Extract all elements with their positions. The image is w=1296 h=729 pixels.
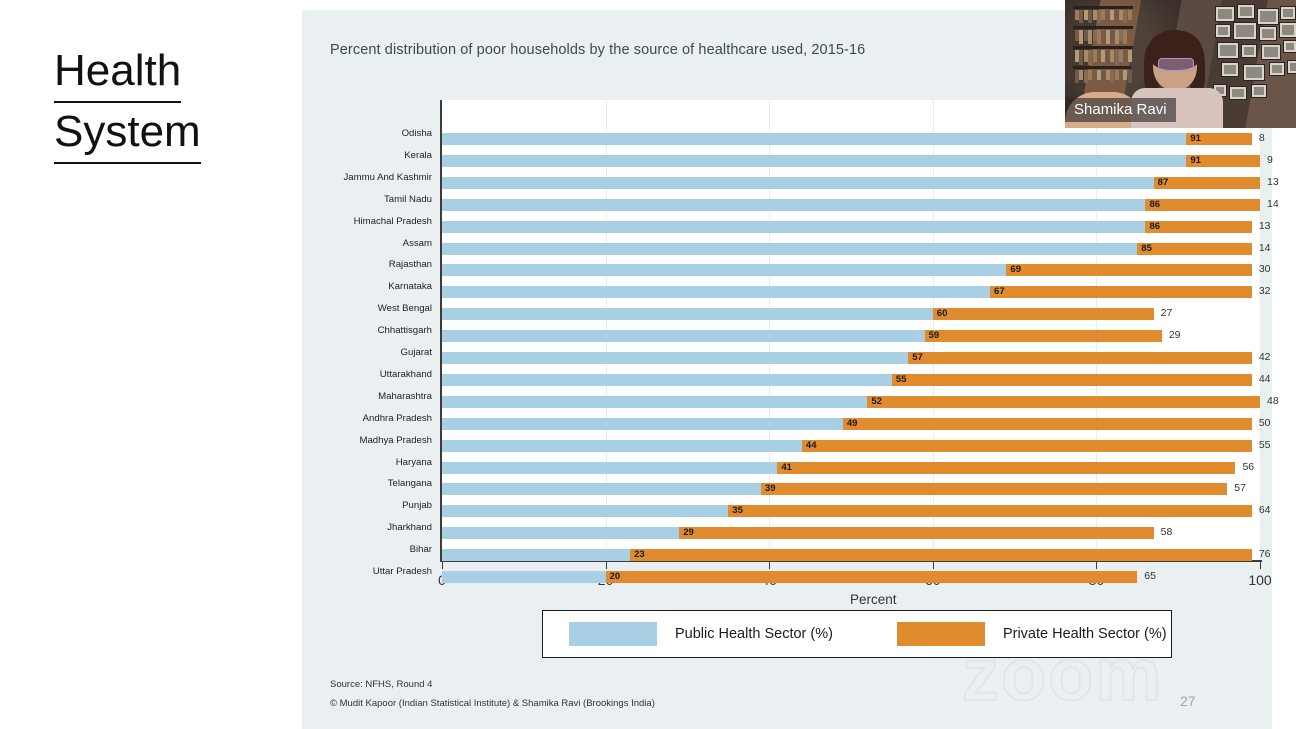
legend-label-public: Public Health Sector (%) xyxy=(675,626,833,642)
book-spine xyxy=(1075,50,1079,62)
bar-row: Tamil Nadu8614 xyxy=(302,194,1272,216)
book-spine xyxy=(1088,30,1092,44)
bar-row: Chhattisgarh5929 xyxy=(302,325,1272,347)
picture-frame-icon xyxy=(1257,8,1279,25)
bar-public-tamil-nadu xyxy=(442,199,1145,211)
value-label-public-assam: 85 xyxy=(1141,242,1152,255)
value-label-private-haryana: 56 xyxy=(1242,461,1254,474)
value-label-public-bihar: 23 xyxy=(634,548,645,561)
picture-frame-icon xyxy=(1287,60,1296,74)
bar-public-jammu-and-kashmir xyxy=(442,177,1154,189)
bar-row: Bihar2376 xyxy=(302,544,1272,566)
bar-public-rajasthan xyxy=(442,264,1006,276)
bar-row: Assam8514 xyxy=(302,238,1272,260)
bar-private-west-bengal xyxy=(933,308,1154,320)
value-label-public-jharkhand: 29 xyxy=(683,526,694,539)
picture-frame-icon xyxy=(1251,84,1267,98)
picture-frame-icon xyxy=(1221,62,1239,77)
book-spine xyxy=(1093,10,1097,20)
bar-row: Jharkhand2958 xyxy=(302,522,1272,544)
person-glasses xyxy=(1158,58,1194,71)
value-label-private-rajasthan: 30 xyxy=(1259,263,1271,276)
bar-row: West Bengal6027 xyxy=(302,303,1272,325)
book-spine xyxy=(1106,50,1110,65)
value-label-public-maharashtra: 52 xyxy=(871,395,882,408)
category-label-haryana: Haryana xyxy=(232,457,432,468)
value-label-public-himachal-pradesh: 86 xyxy=(1149,220,1160,233)
bar-row: Himachal Pradesh8613 xyxy=(302,216,1272,238)
value-label-public-andhra-pradesh: 49 xyxy=(847,417,858,430)
value-label-public-tamil-nadu: 86 xyxy=(1149,198,1160,211)
category-label-himachal-pradesh: Himachal Pradesh xyxy=(232,216,432,227)
bar-row: Odisha918 xyxy=(302,128,1272,150)
bar-private-jammu-and-kashmir xyxy=(1154,177,1260,189)
category-label-jharkhand: Jharkhand xyxy=(232,522,432,533)
book-spine xyxy=(1115,30,1119,44)
book-spine xyxy=(1088,70,1092,80)
value-label-private-karnataka: 32 xyxy=(1259,285,1271,298)
value-label-public-odisha: 91 xyxy=(1190,132,1201,145)
bar-private-punjab xyxy=(728,505,1252,517)
bar-public-bihar xyxy=(442,549,630,561)
value-label-private-telangana: 57 xyxy=(1234,482,1246,495)
value-label-private-odisha: 8 xyxy=(1259,132,1265,145)
bar-private-assam xyxy=(1137,243,1252,255)
picture-frame-icon xyxy=(1217,42,1239,59)
book-spine xyxy=(1079,70,1083,80)
bookshelf-shelf xyxy=(1073,6,1133,9)
value-label-private-gujarat: 42 xyxy=(1259,351,1271,364)
book-spine xyxy=(1128,30,1132,41)
category-label-chhattisgarh: Chhattisgarh xyxy=(232,325,432,336)
book-spine xyxy=(1115,10,1119,23)
bar-public-kerala xyxy=(442,155,1186,167)
value-label-public-west-bengal: 60 xyxy=(937,307,948,320)
picture-frame-icon xyxy=(1233,22,1257,40)
bar-public-haryana xyxy=(442,462,777,474)
book-spine xyxy=(1079,10,1083,23)
value-label-private-jammu-and-kashmir: 13 xyxy=(1267,176,1279,189)
book-spine xyxy=(1110,10,1114,20)
book-spine xyxy=(1119,70,1123,83)
bookshelf-shelf xyxy=(1073,26,1133,29)
value-label-public-telangana: 39 xyxy=(765,482,776,495)
book-spine xyxy=(1097,10,1101,23)
category-label-andhra-pradesh: Andhra Pradesh xyxy=(232,413,432,424)
book-spine xyxy=(1106,70,1110,80)
value-label-private-west-bengal: 27 xyxy=(1161,307,1173,320)
bar-public-assam xyxy=(442,243,1137,255)
value-label-public-punjab: 35 xyxy=(732,504,743,517)
page-title-line-2: System xyxy=(54,103,201,164)
bar-row: Punjab3564 xyxy=(302,500,1272,522)
bookshelf-shelf xyxy=(1073,66,1131,69)
bar-private-himachal-pradesh xyxy=(1145,221,1251,233)
picture-frame-icon xyxy=(1215,24,1231,38)
picture-frame-icon xyxy=(1243,64,1265,81)
picture-frame-icon xyxy=(1259,26,1277,41)
value-label-public-karnataka: 67 xyxy=(994,285,1005,298)
value-label-private-chhattisgarh: 29 xyxy=(1169,329,1181,342)
picture-frame-icon xyxy=(1279,22,1296,38)
category-label-madhya-pradesh: Madhya Pradesh xyxy=(232,435,432,446)
category-label-uttar-pradesh: Uttar Pradesh xyxy=(232,566,432,577)
bar-row: Andhra Pradesh4950 xyxy=(302,413,1272,435)
book-spine xyxy=(1088,10,1092,23)
book-spine xyxy=(1119,30,1123,41)
book-spine xyxy=(1084,70,1088,83)
value-label-public-rajasthan: 69 xyxy=(1010,263,1021,276)
book-spine xyxy=(1101,70,1105,83)
category-label-kerala: Kerala xyxy=(232,150,432,161)
category-label-maharashtra: Maharashtra xyxy=(232,391,432,402)
bar-public-west-bengal xyxy=(442,308,933,320)
value-label-private-maharashtra: 48 xyxy=(1267,395,1279,408)
value-label-private-madhya-pradesh: 55 xyxy=(1259,439,1271,452)
book-spine xyxy=(1115,50,1119,65)
bar-private-tamil-nadu xyxy=(1145,199,1260,211)
book-spine xyxy=(1101,10,1105,20)
bar-row: Karnataka6732 xyxy=(302,281,1272,303)
bar-row: Gujarat5742 xyxy=(302,347,1272,369)
book-spine xyxy=(1110,70,1114,83)
book-spine xyxy=(1106,30,1110,44)
bar-private-uttar-pradesh xyxy=(606,571,1138,583)
bar-private-telangana xyxy=(761,483,1227,495)
slide-page-number: 27 xyxy=(1180,693,1196,709)
value-label-public-jammu-and-kashmir: 87 xyxy=(1158,176,1169,189)
picture-frame-icon xyxy=(1261,44,1281,60)
value-label-public-uttar-pradesh: 20 xyxy=(610,570,621,583)
book-spine xyxy=(1128,50,1132,62)
book-spine xyxy=(1097,50,1101,65)
picture-frame-icon xyxy=(1283,40,1296,53)
book-spine xyxy=(1097,70,1101,80)
bar-private-bihar xyxy=(630,549,1252,561)
book-spine xyxy=(1101,30,1105,41)
category-label-odisha: Odisha xyxy=(232,128,432,139)
bookshelf-shelf xyxy=(1073,46,1133,49)
book-spine xyxy=(1115,70,1119,80)
value-label-public-kerala: 91 xyxy=(1190,154,1201,167)
book-spine xyxy=(1075,10,1079,20)
value-label-private-bihar: 76 xyxy=(1259,548,1271,561)
bar-private-haryana xyxy=(777,462,1235,474)
book-spine xyxy=(1084,30,1088,41)
book-spine xyxy=(1110,50,1114,62)
bar-private-chhattisgarh xyxy=(925,330,1162,342)
value-label-private-punjab: 64 xyxy=(1259,504,1271,517)
x-axis-label: Percent xyxy=(850,592,897,607)
bar-public-andhra-pradesh xyxy=(442,418,843,430)
bar-row: Haryana4156 xyxy=(302,457,1272,479)
picture-frame-icon xyxy=(1241,44,1257,58)
legend-item-public: Public Health Sector (%) xyxy=(569,622,833,646)
category-label-west-bengal: West Bengal xyxy=(232,303,432,314)
value-label-private-assam: 14 xyxy=(1259,242,1271,255)
bar-public-telangana xyxy=(442,483,761,495)
book-spine xyxy=(1088,50,1092,65)
bar-row: Uttar Pradesh2065 xyxy=(302,566,1272,588)
book-spine xyxy=(1093,50,1097,62)
book-spine xyxy=(1079,50,1083,65)
book-spine xyxy=(1106,10,1110,23)
book-spine xyxy=(1119,10,1123,20)
bar-private-uttarakhand xyxy=(892,374,1252,386)
value-label-private-andhra-pradesh: 50 xyxy=(1259,417,1271,430)
bar-private-andhra-pradesh xyxy=(843,418,1252,430)
page-title: Health System xyxy=(54,42,284,164)
picture-frame-icon xyxy=(1215,6,1235,22)
book-spine xyxy=(1123,70,1127,80)
book-spine xyxy=(1119,50,1123,62)
picture-frame-icon xyxy=(1280,6,1296,20)
video-participant-tile[interactable]: Shamika Ravi xyxy=(1065,0,1296,128)
category-label-tamil-nadu: Tamil Nadu xyxy=(232,194,432,205)
chart-title: Percent distribution of poor households … xyxy=(330,42,865,58)
bar-private-jharkhand xyxy=(679,527,1153,539)
bar-row: Maharashtra5248 xyxy=(302,391,1272,413)
picture-frame-icon xyxy=(1237,4,1255,19)
value-label-private-uttar-pradesh: 65 xyxy=(1144,570,1156,583)
category-label-punjab: Punjab xyxy=(232,500,432,511)
bar-public-madhya-pradesh xyxy=(442,440,802,452)
book-spine xyxy=(1128,10,1132,20)
category-label-jammu-and-kashmir: Jammu And Kashmir xyxy=(232,172,432,183)
book-spine xyxy=(1075,70,1079,83)
bar-public-chhattisgarh xyxy=(442,330,925,342)
bar-private-maharashtra xyxy=(867,396,1260,408)
page-title-line-1: Health xyxy=(54,42,181,103)
bar-private-karnataka xyxy=(990,286,1252,298)
bar-row: Rajasthan6930 xyxy=(302,259,1272,281)
bar-public-himachal-pradesh xyxy=(442,221,1145,233)
value-label-public-uttarakhand: 55 xyxy=(896,373,907,386)
bar-row: Jammu And Kashmir8713 xyxy=(302,172,1272,194)
book-spine xyxy=(1093,30,1097,41)
book-spine xyxy=(1097,30,1101,44)
value-label-private-himachal-pradesh: 13 xyxy=(1259,220,1271,233)
legend-swatch-public xyxy=(569,622,657,646)
zoom-watermark: zoom xyxy=(962,638,1163,712)
value-label-private-tamil-nadu: 14 xyxy=(1267,198,1279,211)
source-note: Source: NFHS, Round 4 xyxy=(330,679,432,690)
book-spine xyxy=(1123,50,1127,65)
picture-frame-icon xyxy=(1229,86,1247,100)
picture-frame-icon xyxy=(1269,62,1285,76)
copyright-note: © Mudit Kapoor (Indian Statistical Insti… xyxy=(330,698,655,709)
bar-public-odisha xyxy=(442,133,1186,145)
bar-row: Kerala919 xyxy=(302,150,1272,172)
book-spine xyxy=(1123,30,1127,44)
bar-public-maharashtra xyxy=(442,396,867,408)
value-label-public-madhya-pradesh: 44 xyxy=(806,439,817,452)
bar-private-gujarat xyxy=(908,352,1252,364)
bar-public-gujarat xyxy=(442,352,908,364)
category-label-karnataka: Karnataka xyxy=(232,281,432,292)
value-label-private-jharkhand: 58 xyxy=(1161,526,1173,539)
bar-private-rajasthan xyxy=(1006,264,1251,276)
category-label-assam: Assam xyxy=(232,238,432,249)
bar-row: Telangana3957 xyxy=(302,478,1272,500)
bar-public-jharkhand xyxy=(442,527,679,539)
book-spine xyxy=(1110,30,1114,41)
value-label-public-haryana: 41 xyxy=(781,461,792,474)
book-spine xyxy=(1084,50,1088,62)
category-label-uttarakhand: Uttarakhand xyxy=(232,369,432,380)
value-label-private-uttarakhand: 44 xyxy=(1259,373,1271,386)
book-spine xyxy=(1101,50,1105,62)
book-spine xyxy=(1128,70,1132,83)
bar-public-punjab xyxy=(442,505,728,517)
book-spine xyxy=(1093,70,1097,83)
value-label-public-chhattisgarh: 59 xyxy=(929,329,940,342)
category-label-bihar: Bihar xyxy=(232,544,432,555)
category-label-telangana: Telangana xyxy=(232,478,432,489)
book-spine xyxy=(1123,10,1127,23)
value-label-private-kerala: 9 xyxy=(1267,154,1273,167)
bar-public-uttar-pradesh xyxy=(442,571,606,583)
book-spine xyxy=(1075,30,1079,41)
bar-row: Madhya Pradesh4455 xyxy=(302,435,1272,457)
bar-private-madhya-pradesh xyxy=(802,440,1252,452)
book-spine xyxy=(1084,10,1088,20)
value-label-public-gujarat: 57 xyxy=(912,351,923,364)
bar-public-karnataka xyxy=(442,286,990,298)
book-spine xyxy=(1079,30,1083,44)
bar-row: Uttarakhand5544 xyxy=(302,369,1272,391)
category-label-rajasthan: Rajasthan xyxy=(232,259,432,270)
bar-public-uttarakhand xyxy=(442,374,892,386)
category-label-gujarat: Gujarat xyxy=(232,347,432,358)
participant-name-label: Shamika Ravi xyxy=(1065,98,1176,122)
